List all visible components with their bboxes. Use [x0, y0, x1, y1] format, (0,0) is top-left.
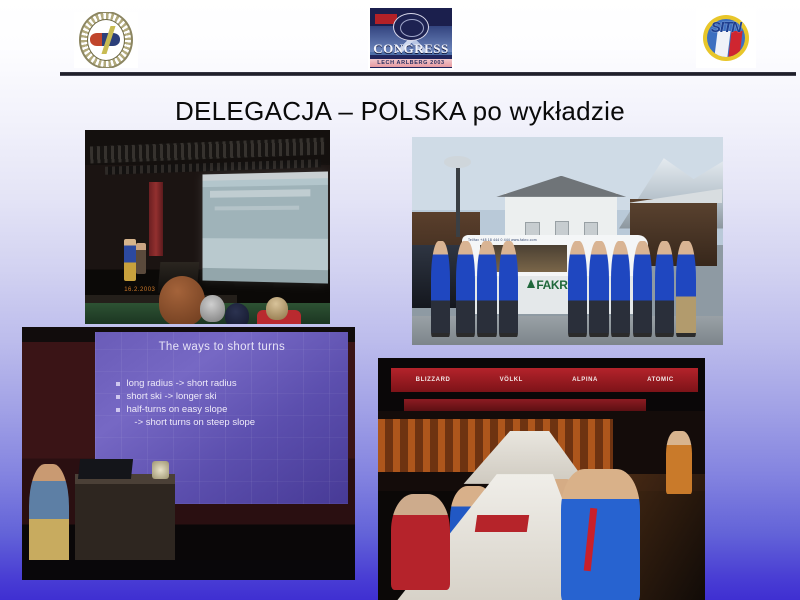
delegation-member-foreground: [561, 469, 639, 600]
seal-inner-disc: [87, 19, 125, 61]
banquet-delegation-photo: BLIZZARD VÖLKL ALPINA ATOMIC: [378, 358, 705, 600]
presenter: [29, 464, 69, 570]
delegation-member: [568, 241, 587, 337]
audience-head: [200, 295, 225, 322]
presentation-slide: CONGRESS LECH ARLBERG 2003 SITN DELEGACJ…: [0, 0, 800, 600]
photo-date-stamp: 16.2.2003: [124, 287, 155, 293]
delegation-member: [589, 241, 608, 337]
congress-logo: CONGRESS LECH ARLBERG 2003: [368, 6, 454, 70]
sponsor-banner-blizzard: BLIZZARD: [416, 377, 451, 383]
projected-slide-photo: The ways to short turns long radius -> s…: [22, 327, 355, 580]
stage-assistant: [136, 243, 146, 274]
laptop: [78, 459, 133, 479]
delegation-member: [456, 241, 475, 337]
delegation-member: [633, 241, 652, 337]
table-item-red-box: [475, 515, 530, 532]
chalet-window: [555, 221, 569, 237]
header-logo-band: CONGRESS LECH ARLBERG 2003 SITN: [0, 0, 800, 72]
delegation-member: [477, 241, 496, 337]
sponsor-banner-row: BLIZZARD VÖLKL ALPINA ATOMIC: [391, 368, 698, 392]
bullet-item: short ski -> longer ski: [115, 390, 338, 403]
sitn-logo-text: SITN: [696, 19, 756, 36]
secondary-banner: [404, 399, 646, 411]
delegation-member: [431, 241, 450, 337]
delegation-member: [499, 241, 518, 337]
lecture-hall-photo: 16.2.2003: [85, 130, 330, 324]
stage-curtain: [149, 182, 164, 256]
audience-head: [159, 276, 206, 325]
stage-floor: [22, 560, 355, 580]
projection-screen: [203, 171, 329, 283]
audience-head: [225, 303, 250, 324]
projected-slide-bullets: long radius -> short radius short ski ->…: [115, 377, 338, 429]
delegation-member: [611, 241, 630, 337]
congress-logo-panel: CONGRESS LECH ARLBERG 2003: [370, 8, 452, 68]
congress-badge-icon: [393, 13, 429, 41]
delegation-member: [676, 241, 695, 337]
sponsor-banner-atomic: ATOMIC: [647, 377, 674, 383]
lectern-lamp: [152, 461, 169, 479]
sponsor-banner-volkl: VÖLKL: [500, 377, 523, 383]
congress-logo-title: CONGRESS: [370, 41, 452, 57]
audience-head: [266, 297, 288, 320]
federation-seal-logo: [74, 12, 138, 68]
delegation-member: [655, 241, 674, 337]
van-contact-text: Tel/fax +48 18 444 0 444 www.fakro.com: [468, 238, 630, 242]
stage-presenter: [124, 239, 136, 282]
projected-slide-heading: The ways to short turns: [95, 341, 348, 353]
bullet-item-continuation: -> short turns on steep slope: [115, 416, 338, 429]
delegation-member-red-jacket: [391, 494, 450, 591]
street-lamp: [456, 166, 460, 237]
congress-logo-subtitle: LECH ARLBERG 2003: [370, 59, 452, 67]
sponsor-banner-alpina: ALPINA: [572, 377, 598, 383]
bullet-item: half-turns on easy slope: [115, 403, 338, 416]
header-divider-rule: [60, 72, 796, 76]
page-title: DELEGACJA – POLSKA po wykładzie: [0, 96, 800, 127]
distant-person: [666, 431, 692, 494]
sitn-logo: SITN: [696, 8, 756, 68]
bullet-item: long radius -> short radius: [115, 377, 338, 390]
fakro-van-team-photo: Tel/fax +48 18 444 0 444 www.fakro.com F…: [412, 137, 723, 345]
